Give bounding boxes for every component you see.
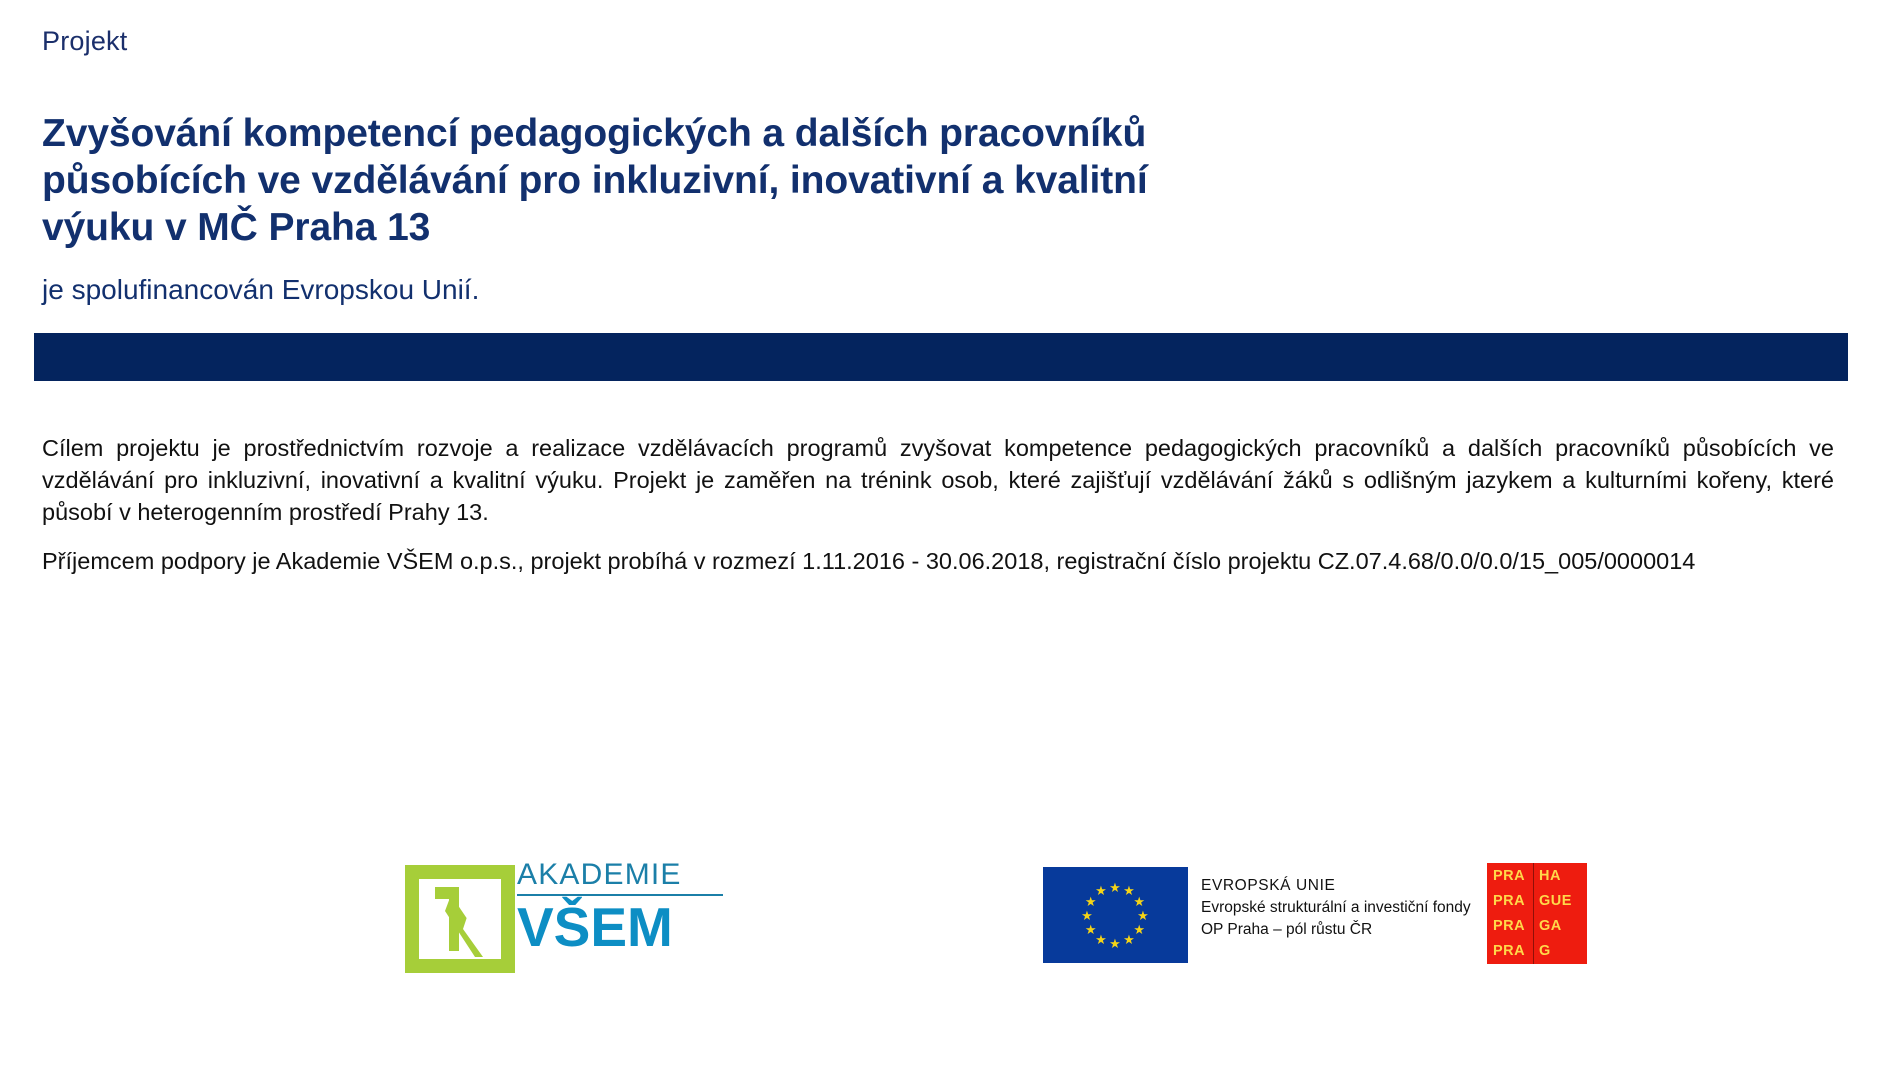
eu-star-icon: ★ [1095, 884, 1108, 897]
eu-star-icon: ★ [1084, 923, 1097, 936]
akademie-word-top: AKADEMIE [517, 859, 723, 891]
prague-logo-divider [1533, 863, 1534, 964]
akademie-wordmark: AKADEMIE VŠEM [517, 859, 723, 956]
blue-divider-bar [34, 333, 1848, 381]
body-copy: Cílem projektu je prostřednictvím rozvoj… [42, 432, 1834, 577]
eu-flag-icon: ★★★★★★★★★★★★ [1043, 867, 1188, 963]
paragraph-project-goal: Cílem projektu je prostřednictvím rozvoj… [42, 432, 1834, 528]
eu-star-icon: ★ [1133, 895, 1146, 908]
eu-star-icon: ★ [1109, 881, 1122, 894]
prague-logo: PRAHAPRAGUEPRAGAPRAG [1487, 863, 1587, 964]
prague-logo-cell: GUE [1533, 893, 1587, 909]
prague-logo-cell: GA [1533, 918, 1587, 934]
prague-logo-grid: PRAHAPRAGUEPRAGAPRAG [1487, 863, 1587, 964]
prague-logo-cell: PRA [1487, 893, 1533, 909]
eu-star-icon: ★ [1123, 933, 1136, 946]
prague-logo-cell: PRA [1487, 918, 1533, 934]
subtitle-text: je spolufinancován Evropskou Unií. [42, 272, 479, 308]
page-title-line-3: výuku v MČ Praha 13 [42, 204, 1372, 251]
document-page: Projekt Zvyšování kompetencí pedagogický… [0, 0, 1900, 1069]
page-title-line-1: Zvyšování kompetencí pedagogických a dal… [42, 110, 1372, 157]
akademie-mark-icon [405, 865, 515, 973]
logo-strip: AKADEMIE VŠEM ★★★★★★★★★★★★ EVROPSKÁ UNIE… [0, 855, 1900, 1005]
prague-logo-cell: PRA [1487, 868, 1533, 884]
eu-star-icon: ★ [1081, 909, 1094, 922]
akademie-vsem-logo: AKADEMIE VŠEM [405, 855, 725, 975]
eyebrow-label: Projekt [42, 24, 127, 58]
akademie-word-bottom: VŠEM [517, 898, 723, 956]
prague-logo-cell: HA [1533, 868, 1587, 884]
eu-star-icon: ★ [1109, 937, 1122, 950]
prague-logo-cell: PRA [1487, 943, 1533, 959]
prague-logo-cell: G [1533, 943, 1587, 959]
page-title-line-2: působících ve vzdělávání pro inkluzivní,… [42, 157, 1372, 204]
eu-star-icon: ★ [1137, 909, 1150, 922]
page-title: Zvyšování kompetencí pedagogických a dal… [42, 110, 1372, 251]
paragraph-beneficiary: Příjemcem podpory je Akademie VŠEM o.p.s… [42, 545, 1834, 577]
